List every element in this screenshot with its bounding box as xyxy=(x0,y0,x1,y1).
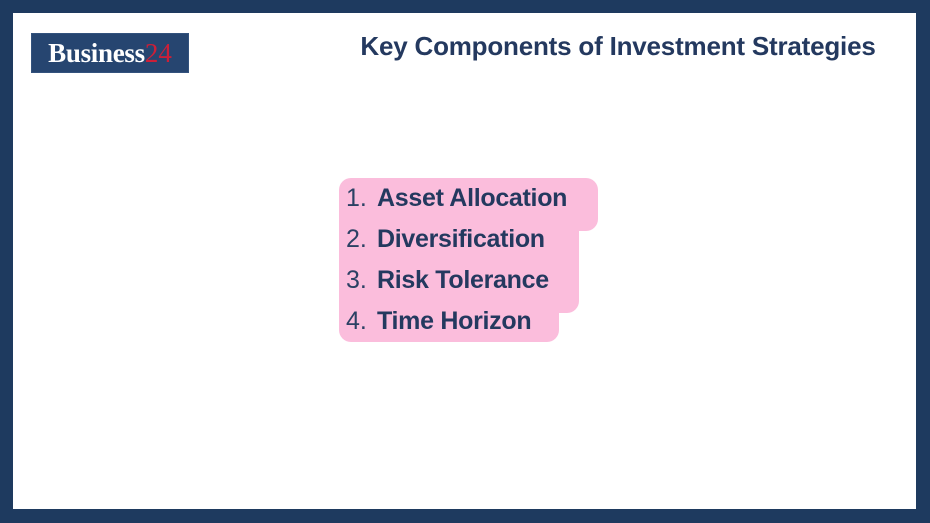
brand-logo-accent-text: 24 xyxy=(145,40,172,67)
slide-border-left xyxy=(0,0,13,523)
slide-border-top xyxy=(0,0,930,13)
list-item-number: 3. xyxy=(346,266,377,295)
list-item-label: Asset Allocation xyxy=(377,184,567,213)
brand-logo-main-text: Business xyxy=(48,40,145,67)
list-item: 1. Asset Allocation xyxy=(339,178,601,219)
list-item: 4. Time Horizon xyxy=(339,301,601,342)
list-item-number: 4. xyxy=(346,307,377,336)
slide-border-right xyxy=(916,0,930,523)
list-item-label: Diversification xyxy=(377,225,545,254)
list-item-label: Risk Tolerance xyxy=(377,266,549,295)
page-title: Key Components of Investment Strategies xyxy=(337,31,899,62)
slide-border-bottom xyxy=(0,509,930,523)
slide-canvas: Business24 Key Components of Investment … xyxy=(0,0,930,523)
list-item-number: 1. xyxy=(346,184,377,213)
list-item-label: Time Horizon xyxy=(377,307,531,336)
brand-logo: Business24 xyxy=(31,33,189,73)
list-item-number: 2. xyxy=(346,225,377,254)
investment-components-list: 1. Asset Allocation 2. Diversification 3… xyxy=(339,178,601,342)
list-item: 3. Risk Tolerance xyxy=(339,260,601,301)
